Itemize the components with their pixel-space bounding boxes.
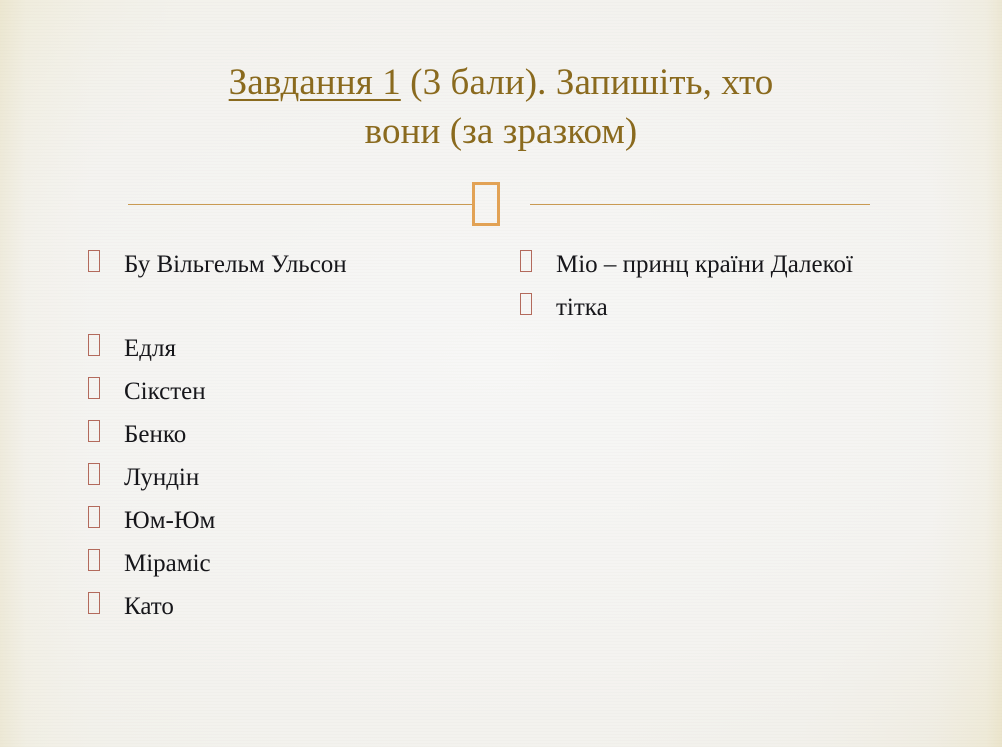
list-item: Лундін	[84, 456, 484, 499]
bullet-box-icon	[88, 334, 100, 356]
presentation-slide: Завдання 1 (3 бали). Запишіть, хто вони …	[0, 0, 1002, 747]
list-item: Като	[84, 585, 484, 628]
title-line-2: вони (за зразком)	[110, 107, 892, 156]
bullet-box-icon	[520, 293, 532, 315]
list-item-label: Лундін	[124, 456, 199, 499]
list-item: Бенко	[84, 413, 484, 456]
right-column: Міо – принц країни Далекої тітка	[516, 243, 916, 329]
divider-rule-right	[530, 204, 870, 205]
list-item-label: Юм-Юм	[124, 499, 215, 542]
divider-rule-left	[128, 204, 472, 205]
list-item: Міраміс	[84, 542, 484, 585]
bullet-box-icon	[88, 463, 100, 485]
title-task-label: Завдання 1	[229, 62, 401, 103]
bullet-box-icon	[520, 250, 532, 272]
list-item: Юм-Юм	[84, 499, 484, 542]
list-item-label: Бу Вільгельм Ульсон	[124, 243, 347, 286]
title-line-1: Завдання 1 (3 бали). Запишіть, хто	[110, 58, 892, 107]
list-item: Міо – принц країни Далекої	[516, 243, 916, 286]
title-divider	[0, 204, 1002, 207]
title-line-1-rest: (3 бали). Запишіть, хто	[401, 62, 774, 103]
list-item-label: Като	[124, 585, 174, 628]
bullet-box-icon	[88, 506, 100, 528]
list-item-label: тітка	[556, 286, 608, 329]
list-item: Бу Вільгельм Ульсон	[84, 243, 484, 287]
bullet-box-icon	[88, 420, 100, 442]
bullet-box-icon	[88, 592, 100, 614]
list-item-label: Сікстен	[124, 370, 206, 413]
list-item: Едля	[84, 327, 484, 370]
list-item: тітка	[516, 286, 916, 329]
list-item: Сікстен	[84, 370, 484, 413]
list-item-label: Міо – принц країни Далекої	[556, 243, 853, 286]
bullet-box-icon	[88, 377, 100, 399]
list-gap	[84, 287, 484, 327]
left-column: Бу Вільгельм Ульсон Едля Сікстен Бенко Л…	[84, 243, 484, 628]
slide-title: Завдання 1 (3 бали). Запишіть, хто вони …	[110, 58, 892, 156]
bullet-box-icon	[88, 549, 100, 571]
list-item-label: Едля	[124, 327, 176, 370]
bullet-box-icon	[88, 250, 100, 272]
list-item-label: Міраміс	[124, 542, 211, 585]
unsupported-character-box-icon	[472, 182, 500, 226]
list-item-label: Бенко	[124, 413, 186, 456]
